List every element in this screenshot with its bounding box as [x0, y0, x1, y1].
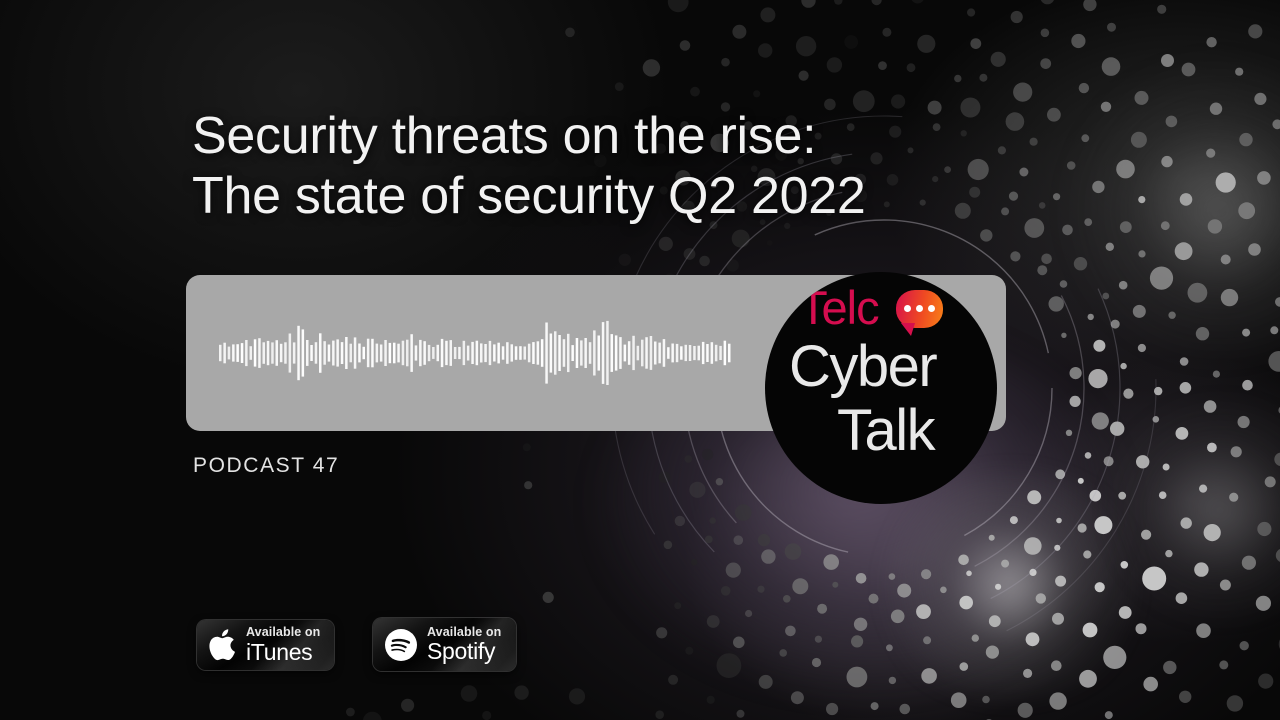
telco-cyber-talk-logo: Telc Cyber Talk [765, 272, 997, 504]
apple-icon [209, 629, 236, 661]
spotify-badge-text: Available on Spotify [427, 626, 501, 664]
ellipsis-dots-icon [904, 305, 935, 312]
itunes-badge-text: Available on iTunes [246, 626, 320, 664]
logo-word-talk: Talk [837, 402, 934, 460]
itunes-available-label: Available on [246, 626, 320, 639]
page-title: Security threats on the rise: The state … [192, 106, 865, 226]
logo-word-telco: Telc [799, 284, 879, 331]
logo-word-cyber: Cyber [789, 338, 936, 396]
speech-bubble-icon [896, 290, 943, 328]
itunes-store-label: iTunes [246, 641, 320, 664]
spotify-store-label: Spotify [427, 640, 501, 663]
spotify-icon [385, 629, 417, 661]
podcast-number-label: PODCAST 47 [193, 454, 339, 478]
spotify-badge[interactable]: Available on Spotify [373, 618, 516, 671]
podcast-cover-slide: Security threats on the rise: The state … [0, 0, 1280, 720]
itunes-badge[interactable]: Available on iTunes [197, 620, 334, 670]
spotify-available-label: Available on [427, 626, 501, 639]
